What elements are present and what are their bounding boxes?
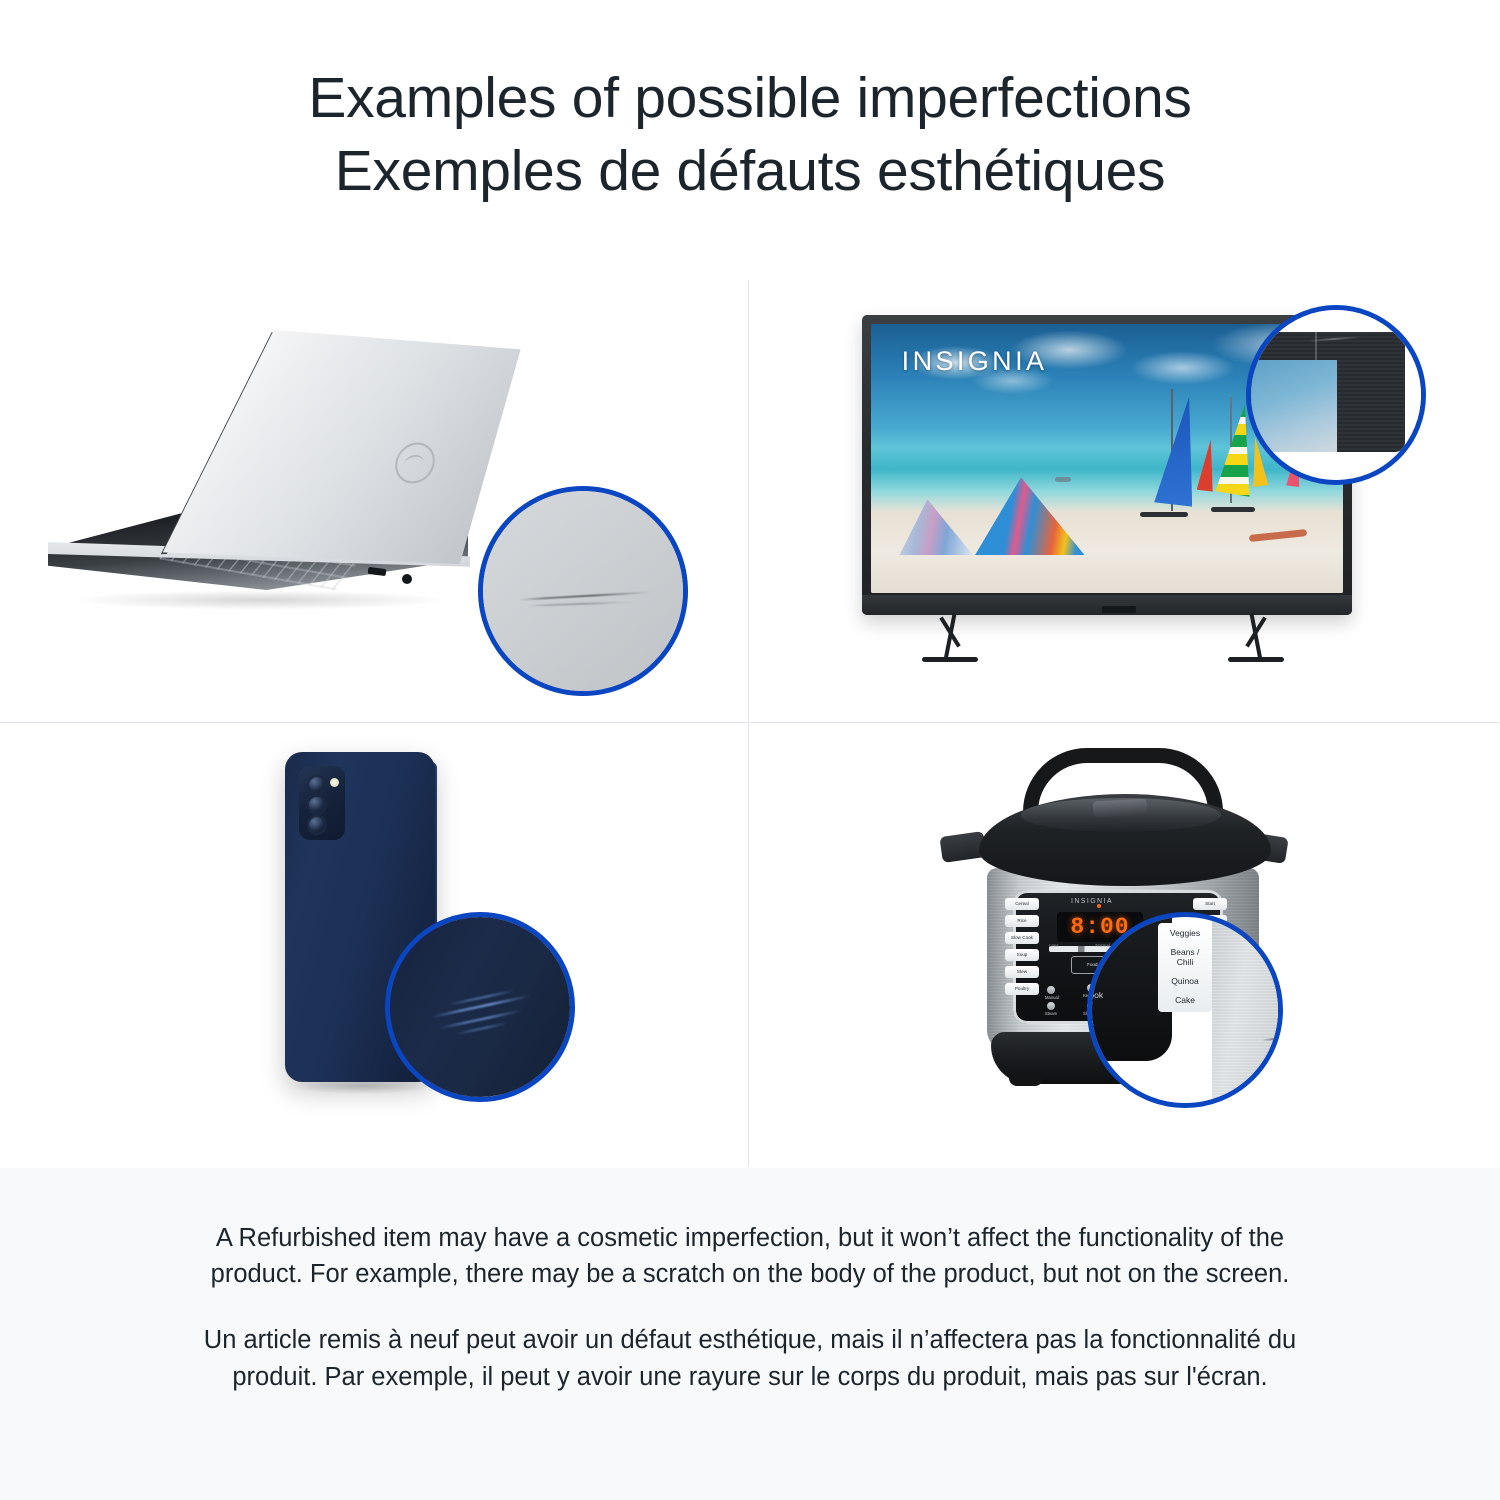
magnified-button-cake[interactable]: Cake [1162,996,1208,1005]
scuff-mark [1307,336,1361,342]
cooker-button-poultry[interactable]: Poultry [1005,983,1039,995]
magnified-button-beans-chili[interactable]: Beans / Chili [1162,948,1208,967]
examples-grid: INSIGNIA [0,280,1500,1168]
cooker-button-soup[interactable]: Soup [1005,949,1039,961]
television-illustration: INSIGNIA [750,280,1499,722]
camera-flash-icon [330,778,339,787]
pressure-cooker-illustration: INSIGNIA 8:00 Less Normal More Food Sett… [750,724,1499,1167]
laptop-lid [154,314,530,582]
level-label-less: Less [1049,943,1059,948]
sailboat-hull [1140,512,1188,517]
cooker-mini-key[interactable] [1047,986,1055,994]
cooker-left-button-column: Cereal Rice Slow Cook Soup Stew Poultry [1005,898,1039,995]
magnifier-laptop-scratch [478,486,688,696]
disclaimer-french: Un article remis à neuf peut avoir un dé… [180,1322,1320,1394]
laptop-shadow [70,590,450,610]
camera-lens-icon [307,795,327,815]
scratch-mark [1262,1037,1283,1041]
tv-foot [1228,657,1284,662]
cooker-button-rice[interactable]: Rice [1005,915,1039,927]
footer-disclaimer: A Refurbished item may have a cosmetic i… [0,1168,1500,1500]
disclaimer-english: A Refurbished item may have a cosmetic i… [180,1220,1320,1292]
laptop-usb-port-icon [368,567,387,576]
cooker-button-cereal[interactable]: Cereal [1005,898,1039,910]
cooker-status-led-icon [1097,904,1101,908]
tv-ir-sensor-icon [1102,606,1136,613]
phone-camera-module [299,766,345,840]
panel-pressure-cooker: INSIGNIA 8:00 Less Normal More Food Sett… [750,724,1499,1167]
magnified-label-slow-cook: ow Cook [1087,985,1103,1005]
page-title-french: Exemples de défauts esthétiques [0,135,1500,208]
distant-boat [1055,477,1071,482]
page-header: Examples of possible imperfections Exemp… [0,0,1500,208]
cooker-mini-label-manual: Manual [1045,995,1059,1000]
cooker-mini-label-steam: Steam [1045,1011,1057,1016]
tv-screen-brand-text: INSIGNIA [902,346,1048,377]
camera-lens-icon [307,775,327,795]
laptop-illustration [0,280,748,722]
panel-smartphone [0,724,749,1167]
cooker-button-stew[interactable]: Stew [1005,966,1039,978]
tv-foot [922,657,978,662]
sailboat-hull [1211,507,1255,512]
panel-laptop [0,280,749,723]
cooker-brand-text: INSIGNIA [1071,898,1113,905]
panel-television: INSIGNIA [750,280,1499,723]
magnifier-phone-scratches [385,912,575,1102]
magnifier-tv-bezel-scuff [1246,305,1426,485]
magnified-stainless-surface [1212,912,1283,1108]
cooker-mini-key[interactable] [1047,1002,1055,1010]
magnified-button-column: Veggies Beans / Chili Quinoa Cake [1158,923,1212,1012]
magnifier-cooker-scratch: elay ow Cook Veggies Beans / Chili Quino… [1087,912,1283,1108]
cooker-button-start[interactable]: Start [1193,898,1227,910]
smartphone-illustration [0,724,748,1167]
magnified-bezel-corner [1246,332,1405,452]
cooker-button-slow-cook[interactable]: Slow Cook [1005,932,1039,944]
cooker-pressure-valve-icon [1093,799,1148,818]
camera-lens-icon [307,815,327,835]
magnified-button-quinoa[interactable]: Quinoa [1162,977,1208,986]
magnified-button-veggies[interactable]: Veggies [1162,929,1208,938]
laptop-audio-port-icon [402,574,412,584]
cooker-foot [1009,1074,1043,1086]
page-title-english: Examples of possible imperfections [0,62,1500,135]
